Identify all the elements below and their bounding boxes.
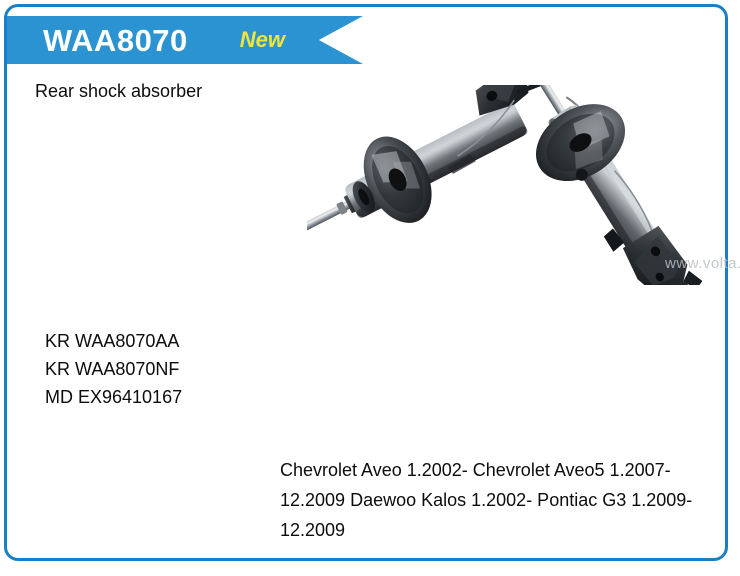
page-title: WAA8070 — [43, 25, 188, 56]
part-number-item: KR WAA8070NF — [45, 355, 182, 383]
product-photo: www.volta.ru www.volta.ru — [307, 85, 727, 285]
product-card: WAA8070 New Rear shock absorber — [4, 4, 728, 561]
status-badge: New — [240, 29, 285, 51]
vehicle-applications: Chevrolet Aveo 1.2002- Chevrolet Aveo5 1… — [280, 455, 700, 545]
part-number-list: KR WAA8070AA KR WAA8070NF MD EX96410167 — [45, 327, 182, 411]
part-number-item: MD EX96410167 — [45, 383, 182, 411]
product-subtitle: Rear shock absorber — [35, 81, 202, 102]
part-number-item: KR WAA8070AA — [45, 327, 182, 355]
shock-absorber-illustration — [307, 85, 727, 285]
product-header-ribbon: WAA8070 New — [7, 16, 363, 64]
